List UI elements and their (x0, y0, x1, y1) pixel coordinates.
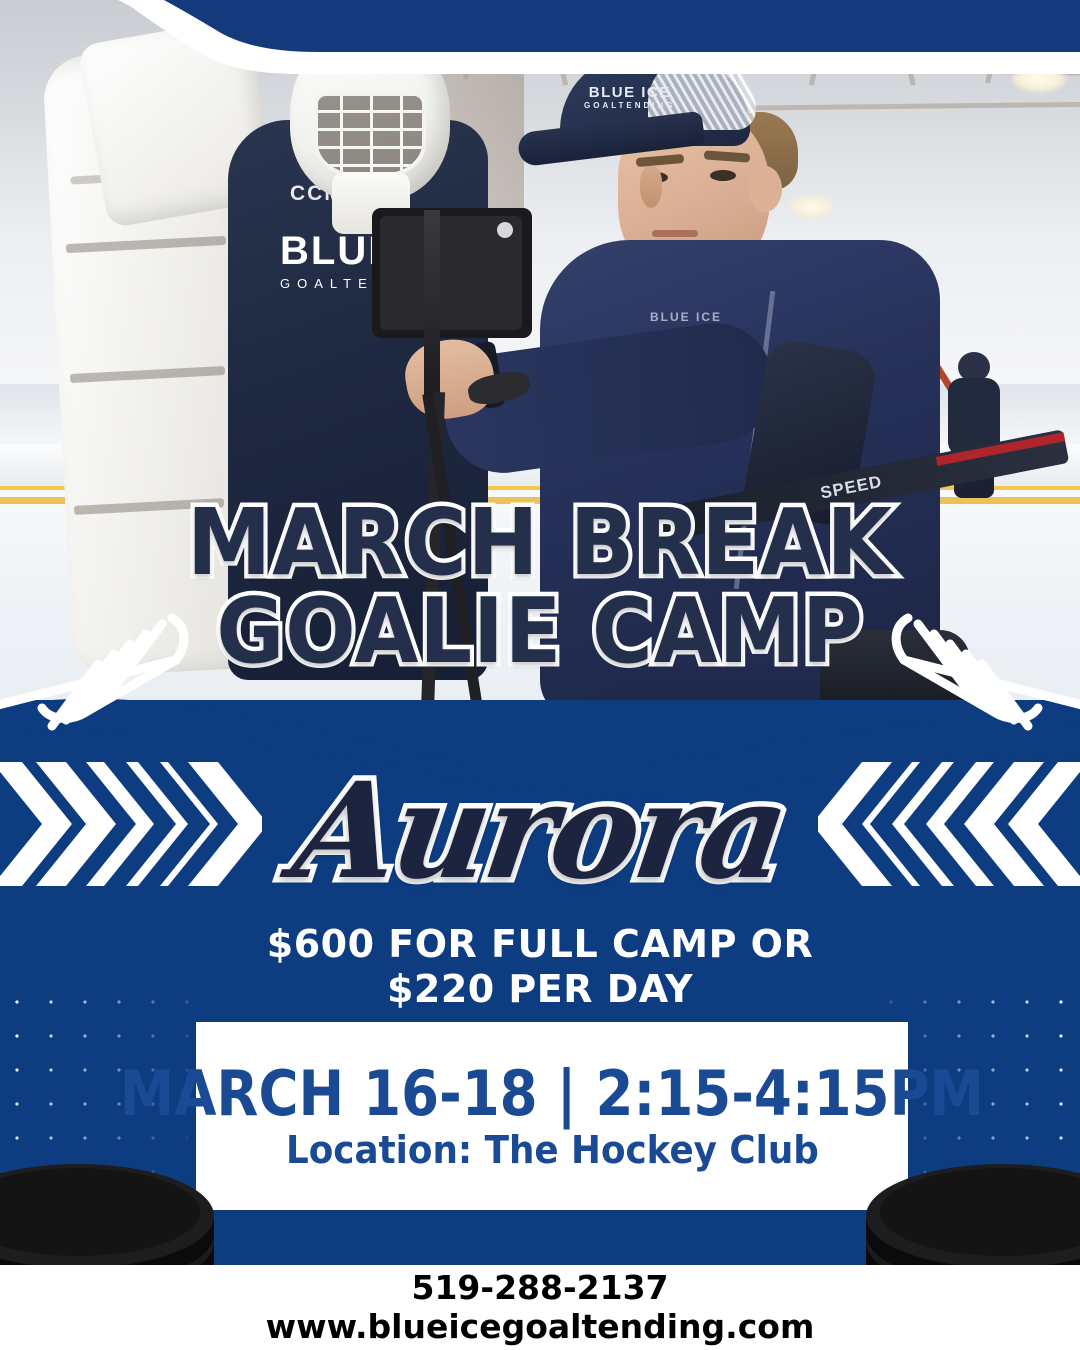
coach-mouth (652, 230, 698, 237)
city-name: Aurora (287, 766, 793, 898)
top-swoosh-decoration (0, 0, 1080, 110)
website-url[interactable]: www.blueicegoaltending.com (266, 1309, 815, 1345)
coach-jacket-logo: BLUE ICE (650, 310, 722, 324)
coach-nose (640, 166, 662, 208)
headline-line2: GOALIE CAMP (43, 588, 1037, 676)
location-text: Location: The Hockey Club (286, 1131, 819, 1169)
pricing-line1: $600 FOR FULL CAMP OR (0, 922, 1080, 967)
coach-ear (748, 166, 782, 212)
pricing-block: $600 FOR FULL CAMP OR $220 PER DAY (0, 922, 1080, 1012)
tripod-column (424, 210, 440, 400)
footer-contact: 519-288-2137 www.blueicegoaltending.com (0, 1265, 1080, 1350)
date-time-text: MARCH 16-18 | 2:15-4:15PM (120, 1063, 984, 1125)
phone-number[interactable]: 519-288-2137 (411, 1270, 668, 1306)
pricing-line2: $220 PER DAY (0, 967, 1080, 1012)
tablet-camera-icon (497, 222, 513, 238)
info-card: MARCH 16-18 | 2:15-4:15PM Location: The … (196, 1022, 908, 1210)
headline-line1: MARCH BREAK (43, 498, 1037, 588)
headline: MARCH BREAK GOALIE CAMP (0, 498, 1080, 676)
poster-canvas: CCM BLUE GOALTENDING (0, 0, 1080, 1350)
city-script-wordmark: Aurora (0, 766, 1080, 898)
